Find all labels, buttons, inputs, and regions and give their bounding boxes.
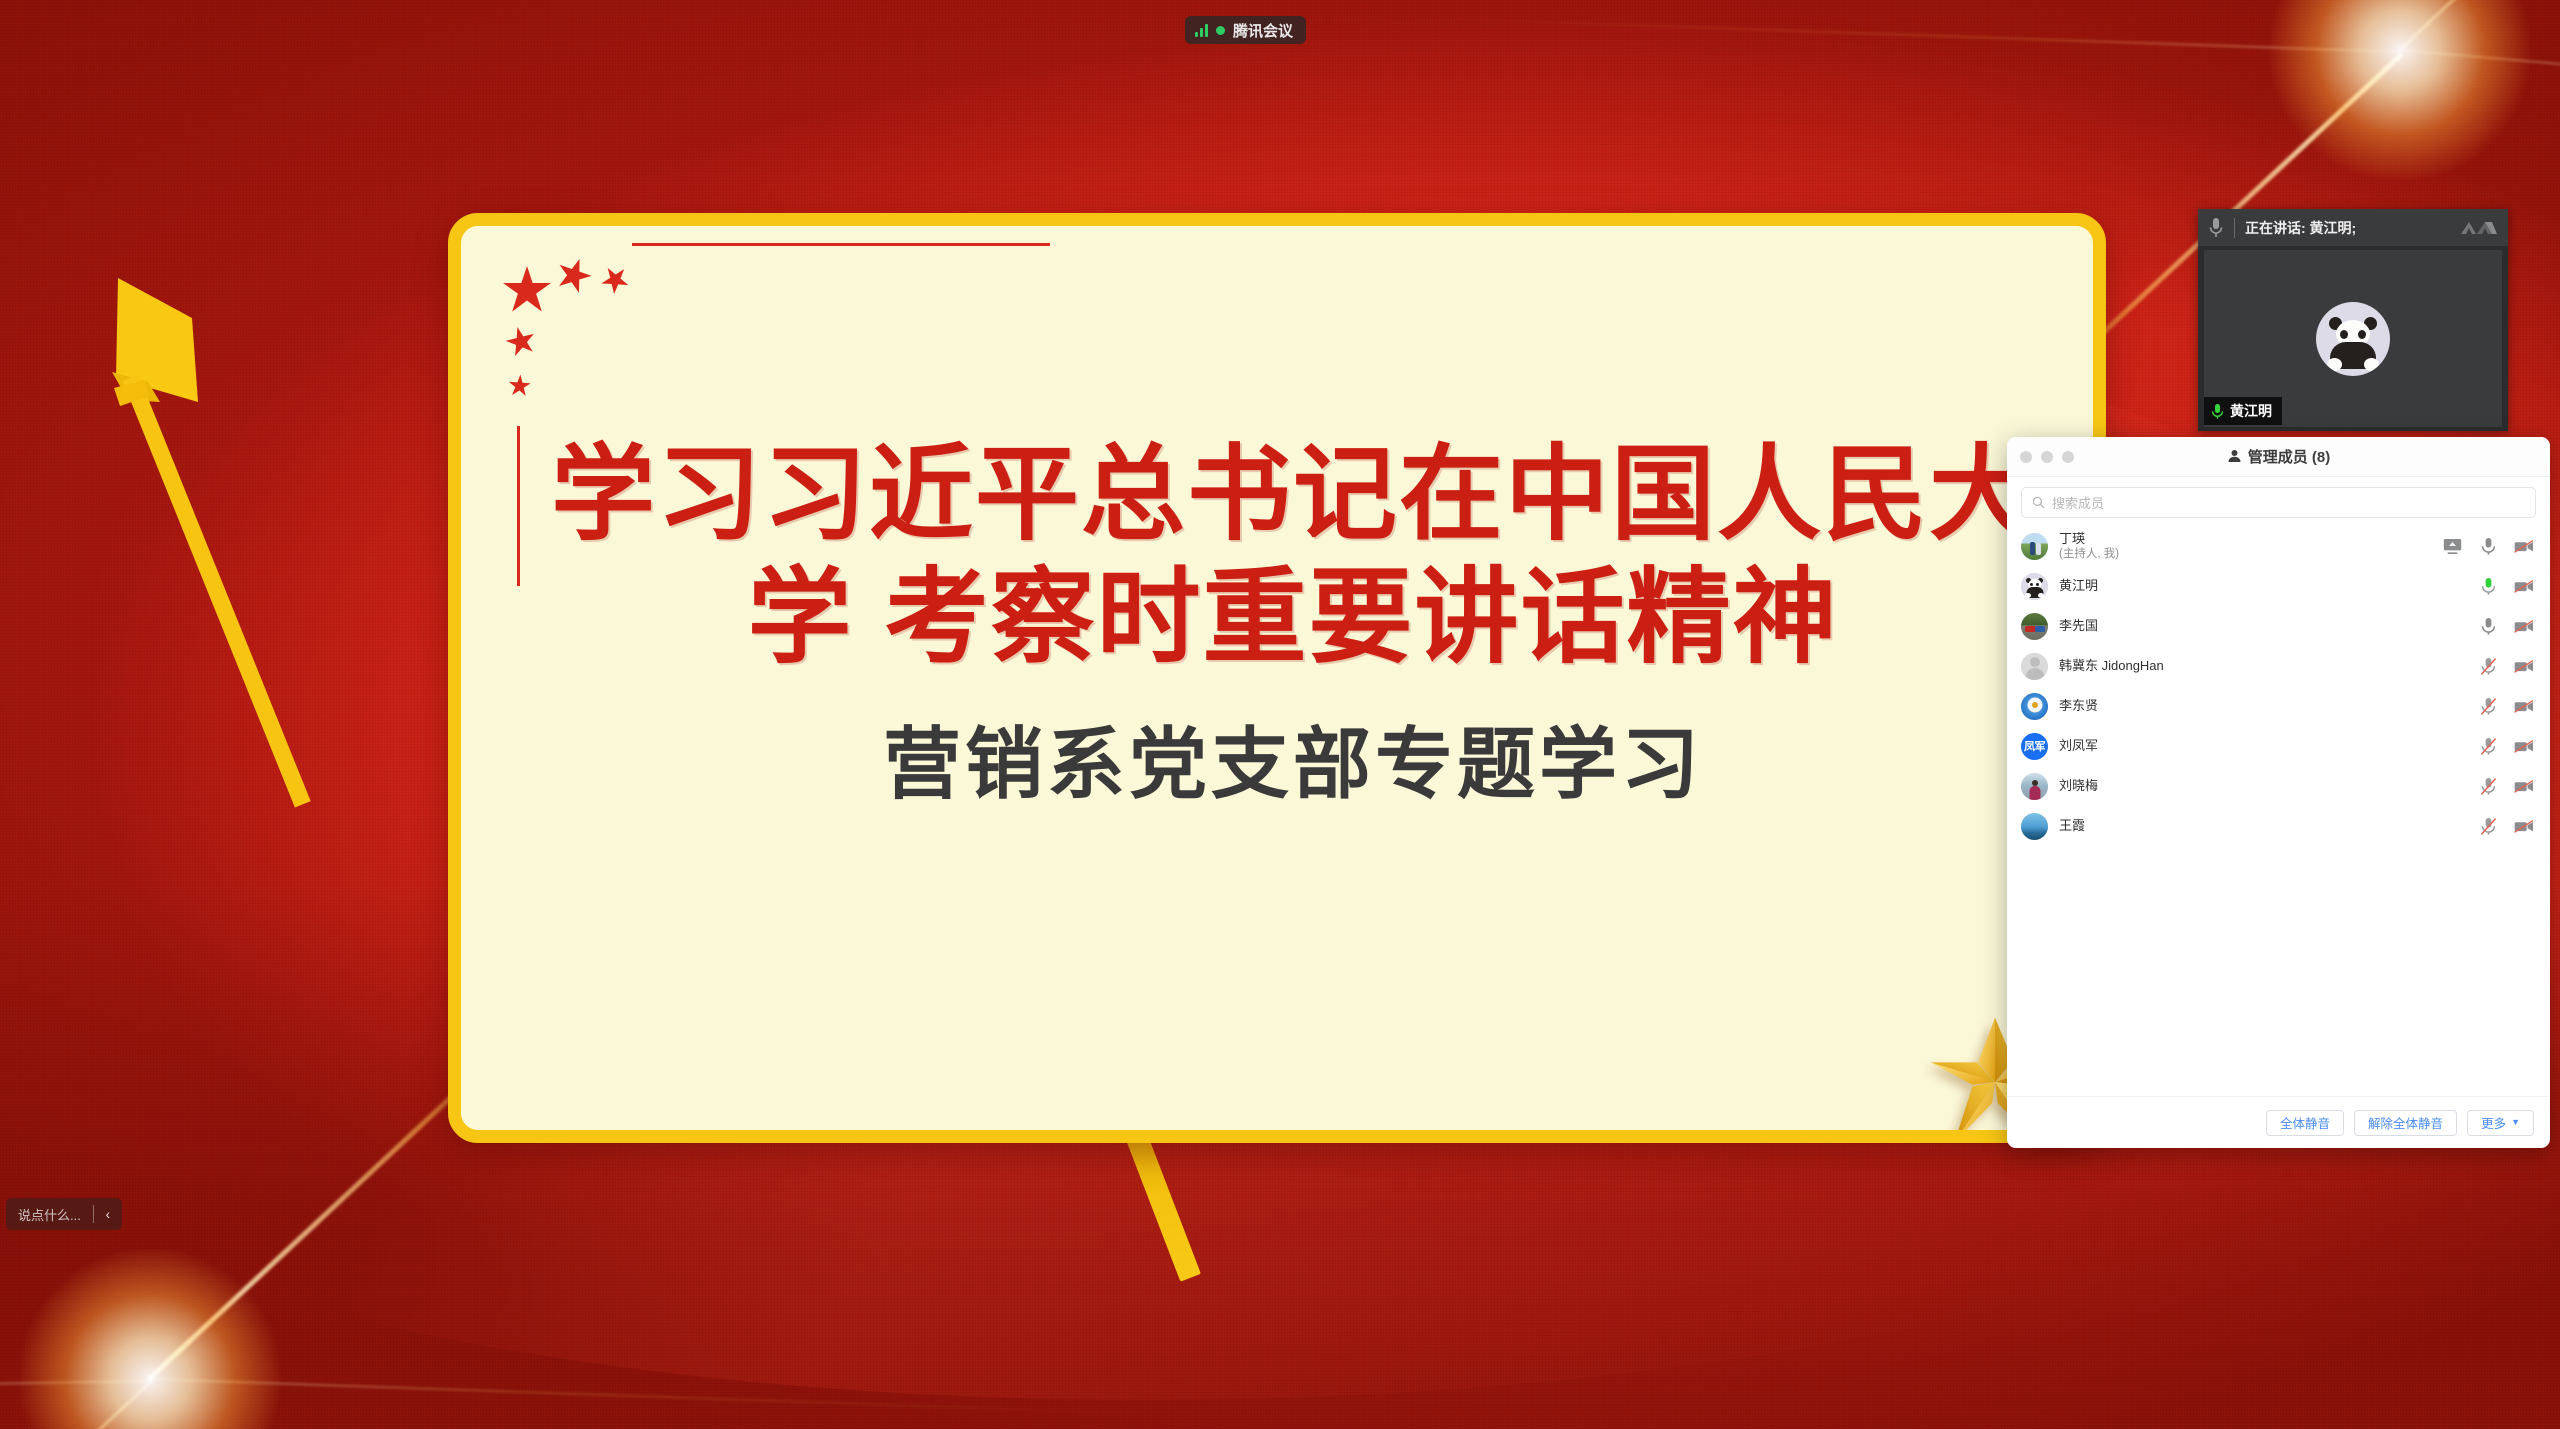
control-spacer	[2442, 696, 2462, 716]
microphone-muted-icon	[2480, 777, 2497, 796]
participants-icon	[2227, 449, 2242, 464]
mic-toggle-button[interactable]	[2478, 776, 2498, 796]
horizontal-rule-decoration	[632, 243, 1050, 246]
microphone-muted-icon	[2480, 817, 2497, 836]
camera-toggle-button[interactable]	[2514, 736, 2534, 756]
window-traffic-lights[interactable]	[2020, 451, 2074, 463]
participant-name-block: 刘凤军	[2059, 738, 2431, 754]
microphone-muted-icon	[2480, 737, 2497, 756]
presentation-slide: 学习习近平总书记在中国人民大学 考察时重要讲话精神 营销系党支部专题学习	[448, 213, 2106, 1143]
participant-name: 李先国	[2059, 618, 2431, 634]
participant-name: 黄江明	[2059, 578, 2431, 594]
participant-row[interactable]: 黄江明	[2007, 566, 2550, 606]
avatar	[2021, 693, 2048, 720]
chat-placeholder: 说点什么...	[6, 1205, 93, 1224]
camera-toggle-button[interactable]	[2514, 656, 2534, 676]
control-spacer	[2442, 776, 2462, 796]
thumbnail-name: 黄江明	[2230, 401, 2272, 421]
avatar: 凤军	[2021, 733, 2048, 760]
participant-controls	[2442, 736, 2534, 756]
camera-toggle-button[interactable]	[2514, 536, 2534, 556]
mic-toggle-button[interactable]	[2478, 576, 2498, 596]
participant-controls	[2442, 536, 2534, 556]
avatar	[2021, 653, 2048, 680]
camera-toggle-button[interactable]	[2514, 616, 2534, 636]
slide-title: 学习习近平总书记在中国人民大学 考察时重要讲话精神	[533, 434, 2053, 679]
participant-name: 韩冀东 JidongHan	[2059, 658, 2431, 674]
thumbnail-top-bar: 正在讲话: 黄江明;	[2198, 209, 2508, 246]
active-speaker-thumbnail[interactable]: 正在讲话: 黄江明; 黄江明	[2198, 209, 2508, 431]
microphone-icon	[2480, 617, 2497, 636]
slide-card: 学习习近平总书记在中国人民大学 考察时重要讲话精神 营销系党支部专题学习	[448, 213, 2106, 1143]
participant-name-block: 李先国	[2059, 618, 2431, 634]
avatar	[2021, 773, 2048, 800]
participant-name-block: 黄江明	[2059, 578, 2431, 594]
close-button[interactable]	[2020, 451, 2032, 463]
thumbnail-name-chip: 黄江明	[2204, 397, 2282, 425]
search-container: 搜索成员	[2007, 477, 2550, 522]
control-spacer	[2442, 656, 2462, 676]
tencent-meeting-logo-icon	[2459, 218, 2499, 238]
divider	[2234, 218, 2235, 238]
camera-off-icon	[2514, 619, 2534, 634]
participant-name: 刘晓梅	[2059, 778, 2431, 794]
avatar	[2021, 613, 2048, 640]
camera-off-icon	[2514, 819, 2534, 834]
panel-footer: 全体静音解除全体静音更多▼	[2007, 1096, 2550, 1148]
chevron-left-icon[interactable]: ‹	[94, 1206, 122, 1222]
avatar	[2021, 813, 2048, 840]
microphone-active-icon	[2480, 577, 2497, 596]
participant-name: 李东贤	[2059, 698, 2431, 714]
maximize-button[interactable]	[2062, 451, 2074, 463]
camera-toggle-button[interactable]	[2514, 696, 2534, 716]
mic-toggle-button[interactable]	[2478, 656, 2498, 676]
screen-share-icon	[2443, 538, 2462, 555]
avatar	[2021, 533, 2048, 560]
participant-row[interactable]: 王霞	[2007, 806, 2550, 846]
camera-toggle-button[interactable]	[2514, 816, 2534, 836]
participant-name-block: 刘晓梅	[2059, 778, 2431, 794]
slide-subtitle: 营销系党支部专题学习	[533, 718, 2053, 812]
camera-off-icon	[2514, 579, 2534, 594]
microphone-icon	[2208, 217, 2224, 239]
participant-name-block: 丁瑛(主持人, 我)	[2059, 531, 2431, 562]
speaking-label: 正在讲话: 黄江明;	[2245, 218, 2356, 238]
panel-header: 管理成员 (8)	[2007, 437, 2550, 477]
mic-toggle-button[interactable]	[2478, 696, 2498, 716]
panel-title: 管理成员 (8)	[2248, 446, 2331, 467]
mic-toggle-button[interactable]	[2478, 816, 2498, 836]
participant-row[interactable]: 李东贤	[2007, 686, 2550, 726]
mic-toggle-button[interactable]	[2478, 536, 2498, 556]
microphone-icon	[2480, 537, 2497, 556]
vertical-rule-decoration	[517, 426, 520, 586]
green-dot-icon	[1216, 26, 1225, 35]
pill-label: 腾讯会议	[1233, 20, 1293, 41]
camera-off-icon	[2514, 739, 2534, 754]
search-input[interactable]: 搜索成员	[2021, 487, 2536, 518]
participant-row[interactable]: 韩冀东 JidongHan	[2007, 646, 2550, 686]
search-placeholder: 搜索成员	[2052, 493, 2104, 512]
microphone-muted-icon	[2480, 657, 2497, 676]
camera-off-icon	[2514, 539, 2534, 554]
panda-avatar-icon	[2316, 302, 2390, 376]
mic-toggle-button[interactable]	[2478, 616, 2498, 636]
control-spacer	[2442, 736, 2462, 756]
footer-button-label: 解除全体静音	[2368, 1113, 2443, 1132]
participant-row[interactable]: 李先国	[2007, 606, 2550, 646]
avatar	[2021, 573, 2048, 600]
participant-name: 刘凤军	[2059, 738, 2431, 754]
participant-controls	[2442, 576, 2534, 596]
camera-toggle-button[interactable]	[2514, 576, 2534, 596]
footer-button-label: 全体静音	[2280, 1113, 2330, 1132]
participant-controls	[2442, 776, 2534, 796]
chevron-down-icon: ▼	[2511, 1118, 2520, 1127]
camera-toggle-button[interactable]	[2514, 776, 2534, 796]
chat-input-bar[interactable]: 说点什么... ‹	[6, 1198, 122, 1230]
participant-name: 丁瑛	[2059, 531, 2431, 547]
participant-name-block: 王霞	[2059, 818, 2431, 834]
footer-button-label: 更多	[2481, 1113, 2506, 1132]
five-stars-decoration-icon	[503, 258, 693, 448]
microphone-muted-icon	[2480, 697, 2497, 716]
microphone-active-icon	[2211, 403, 2224, 420]
gold-banner-flag-icon	[70, 250, 490, 870]
participant-row[interactable]: 刘晓梅	[2007, 766, 2550, 806]
control-spacer	[2442, 576, 2462, 596]
participant-controls	[2442, 816, 2534, 836]
participant-name: 王霞	[2059, 818, 2431, 834]
participant-role: (主持人, 我)	[2059, 547, 2431, 561]
footer-button-2[interactable]: 解除全体静音	[2354, 1110, 2457, 1136]
search-icon	[2032, 496, 2045, 509]
participant-controls	[2442, 696, 2534, 716]
participant-controls	[2442, 656, 2534, 676]
footer-button-3[interactable]: 更多▼	[2467, 1110, 2534, 1136]
mic-toggle-button[interactable]	[2478, 736, 2498, 756]
camera-off-icon	[2514, 659, 2534, 674]
camera-off-icon	[2514, 699, 2534, 714]
control-spacer	[2442, 816, 2462, 836]
participant-name-block: 韩冀东 JidongHan	[2059, 658, 2431, 674]
camera-off-icon	[2514, 779, 2534, 794]
participant-row[interactable]: 凤军刘凤军	[2007, 726, 2550, 766]
manage-participants-panel: 管理成员 (8) 搜索成员 丁瑛(主持人, 我)	[2007, 437, 2550, 1148]
screen-share-button[interactable]	[2442, 536, 2462, 556]
participant-name-block: 李东贤	[2059, 698, 2431, 714]
participant-controls	[2442, 616, 2534, 636]
participant-row[interactable]: 丁瑛(主持人, 我)	[2007, 526, 2550, 566]
participant-list[interactable]: 丁瑛(主持人, 我) 黄江明	[2007, 522, 2550, 1096]
tencent-meeting-status-pill[interactable]: 腾讯会议	[1185, 16, 1306, 44]
footer-button-1[interactable]: 全体静音	[2266, 1110, 2344, 1136]
signal-bars-icon	[1195, 24, 1208, 37]
control-spacer	[2442, 616, 2462, 636]
minimize-button[interactable]	[2041, 451, 2053, 463]
